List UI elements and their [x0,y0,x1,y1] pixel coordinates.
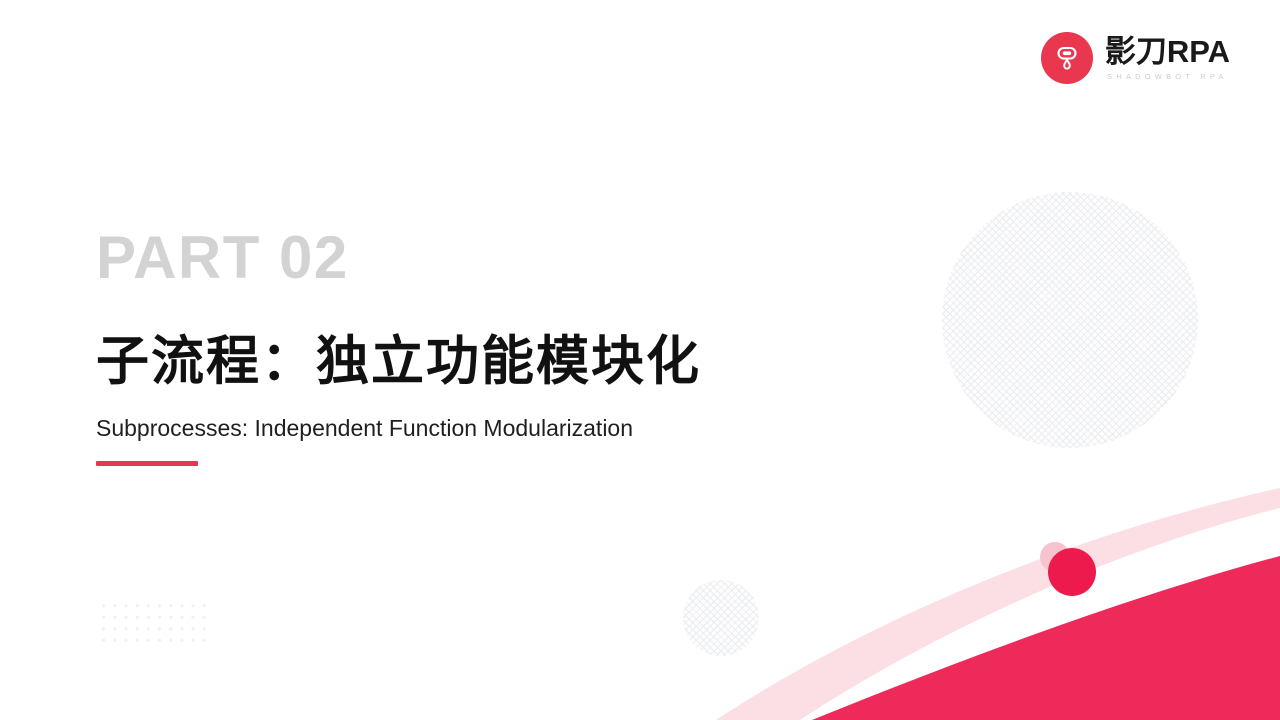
page-title: 子流程：独立功能模块化 [96,332,856,393]
wave-pink-band [716,488,1280,720]
part-label: PART 02 [96,228,856,288]
hatched-circle-small-icon [683,580,759,656]
section-content: PART 02 子流程：独立功能模块化 Subprocesses: Indepe… [96,228,856,466]
brand-name: 影刀RPA [1105,36,1230,67]
brand-logo-text: 影刀RPA SHADOWBOT RPA [1105,36,1230,81]
page-subtitle: Subprocesses: Independent Function Modul… [96,415,856,443]
shadowbot-lamp-icon [1041,32,1093,84]
brand-logo: 影刀RPA SHADOWBOT RPA [1041,32,1230,84]
accent-underline [96,461,198,466]
slide-canvas: 影刀RPA SHADOWBOT RPA PART 02 子流程：独立功能模块化 … [0,0,1280,720]
blob-pink-circle-icon [1040,542,1070,572]
brand-subtitle: SHADOWBOT RPA [1105,73,1230,81]
dot-grid-icon [98,600,210,646]
hatched-circle-large-icon [942,192,1198,448]
wave-crimson-band [812,556,1280,720]
blob-red-circle-icon [1048,548,1096,596]
